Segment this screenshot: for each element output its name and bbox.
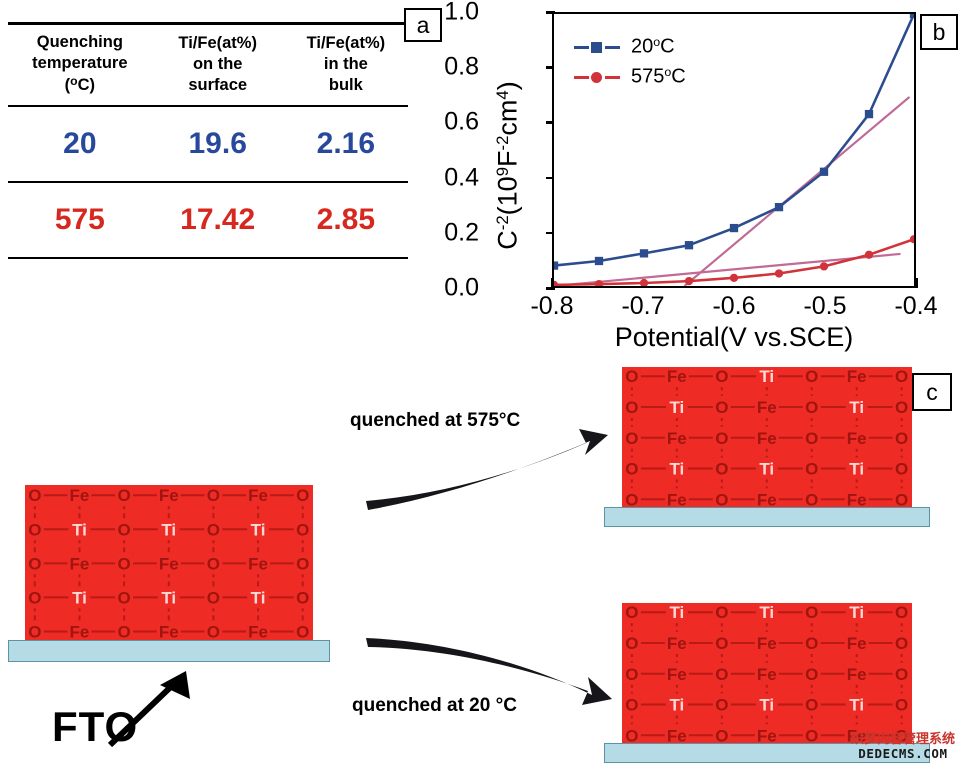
cell-temperature: 575 <box>8 182 152 258</box>
data-point <box>640 279 648 286</box>
ylabel-cm-exp: 4 <box>493 90 512 99</box>
watermark-cn: 织梦内容管理系统 <box>845 733 961 747</box>
legend-marker-square <box>574 40 620 54</box>
legend-label: 20oC <box>631 35 675 58</box>
cell-surface: 19.6 <box>152 106 284 182</box>
panel-c-diagram: c OFeOFeOFeOOTiOTiOTiOOFeOFeOFeOOTiOTiOT… <box>0 355 961 783</box>
y-tick-label: 0.0 <box>444 274 479 303</box>
data-point <box>865 110 873 118</box>
data-point <box>685 277 693 285</box>
ylabel-exp9: 9 <box>493 167 512 176</box>
watermark: 织梦内容管理系统 DEDECMS.COM <box>845 733 961 760</box>
x-tick-label: -0.7 <box>621 292 664 321</box>
header-quenching-temperature: Quenching temperature (oC) <box>8 24 152 107</box>
panel-tag-c: c <box>912 373 952 411</box>
cell-temperature: 20 <box>8 106 152 182</box>
header-line-2: temperature <box>10 53 150 74</box>
data-point <box>820 168 828 176</box>
table-row: 20 19.6 2.16 <box>8 106 408 182</box>
x-axis-label: Potential(V vs.SCE) <box>552 322 916 353</box>
data-point <box>730 274 738 282</box>
table-row: 575 17.42 2.85 <box>8 182 408 258</box>
legend-item-575c: 575oC <box>574 62 686 92</box>
x-tick-label: -0.4 <box>894 292 937 321</box>
header-line-3: (oC) <box>10 74 150 96</box>
panel-b-chart: b C-2(109F-2cm4) Potential(V vs.SCE) 0.0… <box>440 0 961 360</box>
header-line-2: in the <box>286 54 406 75</box>
header-ti-fe-surface: Ti/Fe(at%) on the surface <box>152 24 284 107</box>
header-ti-fe-bulk: Ti/Fe(at%) in the bulk <box>284 24 408 107</box>
fto-label: FTO <box>52 703 138 751</box>
ylabel-cm: cm <box>493 100 523 136</box>
data-point <box>775 203 783 211</box>
data-point <box>595 257 603 265</box>
data-point <box>640 249 648 257</box>
data-point <box>685 241 693 249</box>
arrow-label-20: quenched at 20 °C <box>352 695 517 717</box>
header-line-1: Quenching <box>10 32 150 53</box>
panel-a-table: a Quenching temperature (oC) Ti/Fe(at%) … <box>0 0 440 330</box>
ylabel-close: ) <box>493 81 523 90</box>
y-tick-label: 0.8 <box>444 53 479 82</box>
header-line-1: Ti/Fe(at%) <box>286 33 406 54</box>
panel-tag-a: a <box>404 8 442 42</box>
ylabel-open: (10 <box>493 176 523 215</box>
ylabel-f-exp: -2 <box>493 136 512 151</box>
data-point <box>775 269 783 277</box>
panel-tag-b: b <box>920 14 958 50</box>
y-tick-label: 0.2 <box>444 218 479 247</box>
legend-label: 575oC <box>631 65 686 88</box>
data-point <box>910 235 914 243</box>
header-line-1: Ti/Fe(at%) <box>154 33 282 54</box>
data-point <box>554 281 558 286</box>
legend-marker-circle <box>574 70 620 84</box>
header-line-3: surface <box>154 75 282 96</box>
x-tick-label: -0.6 <box>712 292 755 321</box>
y-tick-label: 0.6 <box>444 108 479 137</box>
y-axis-label: C-2(109F-2cm4) <box>493 36 524 296</box>
quenching-data-table: Quenching temperature (oC) Ti/Fe(at%) on… <box>8 22 408 259</box>
y-tick-label: 0.4 <box>444 163 479 192</box>
plot-area: 20oC 575oC <box>552 12 916 288</box>
x-tick-label: -0.5 <box>803 292 846 321</box>
ylabel-c-exp: -2 <box>493 215 512 230</box>
ylabel-c: C <box>493 230 523 250</box>
data-point <box>910 14 914 18</box>
header-line-2: on the <box>154 54 282 75</box>
degree-symbol: o <box>70 74 77 88</box>
table-header-row: Quenching temperature (oC) Ti/Fe(at%) on… <box>8 24 408 107</box>
arrow-label-575: quenched at 575°C <box>350 410 520 432</box>
header-line-3: bulk <box>286 75 406 96</box>
x-tick-label: -0.8 <box>530 292 573 321</box>
data-point <box>820 262 828 270</box>
legend-item-20c: 20oC <box>574 32 686 62</box>
celsius-close: C) <box>78 76 95 94</box>
chart-legend: 20oC 575oC <box>574 32 686 92</box>
data-point <box>865 251 873 259</box>
cell-bulk: 2.85 <box>284 182 408 258</box>
data-point <box>554 261 558 269</box>
watermark-en: DEDECMS.COM <box>845 747 961 760</box>
cell-surface: 17.42 <box>152 182 284 258</box>
ylabel-f: F <box>493 150 523 167</box>
y-tick-label: 1.0 <box>444 0 479 27</box>
data-point <box>730 224 738 232</box>
cell-bulk: 2.16 <box>284 106 408 182</box>
arrow-quenched-575 <box>366 429 608 510</box>
